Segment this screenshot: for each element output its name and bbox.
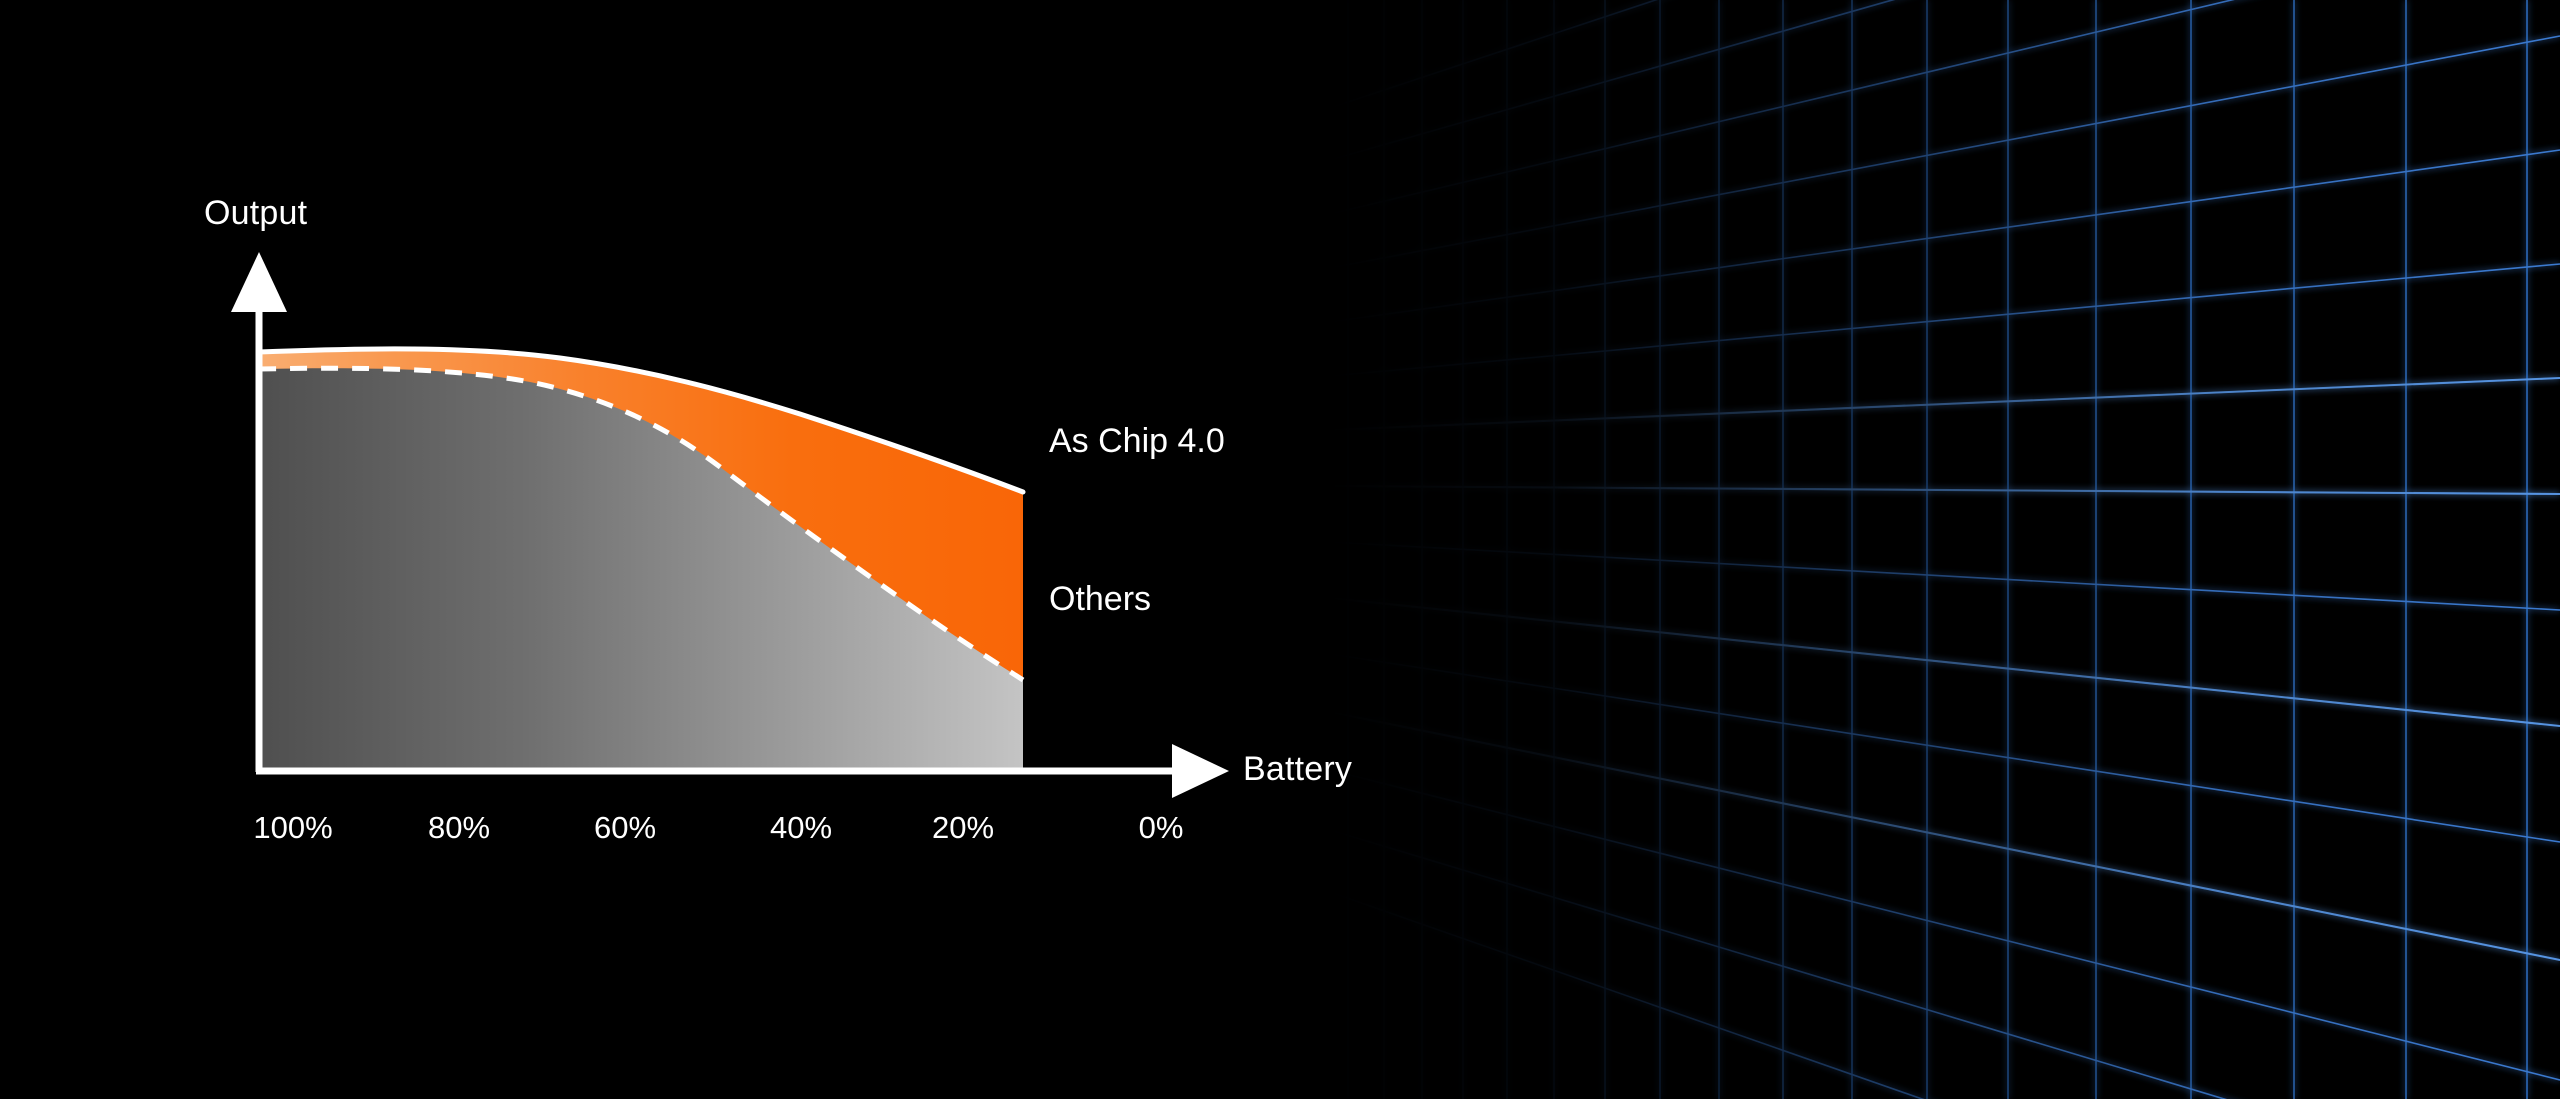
chart-panel: Output Battery As Chip 4.0 Others 100% 8… — [0, 0, 1500, 1099]
chart-svg — [0, 0, 1500, 1099]
series-label-others: Others — [1049, 582, 1151, 616]
series-label-as-chip-4: As Chip 4.0 — [1049, 424, 1225, 458]
screen-canvas: Output Battery As Chip 4.0 Others 100% 8… — [0, 0, 2560, 1099]
grid-lines — [1330, 0, 2560, 1099]
x-tick-label-40: 40% — [770, 812, 832, 843]
grid-horizontal-lines — [1330, 0, 2560, 1099]
y-axis-arrowhead — [231, 252, 287, 312]
background-perspective-grid — [1330, 0, 2560, 1099]
x-tick-label-100: 100% — [253, 812, 332, 843]
x-tick-label-0: 0% — [1139, 812, 1184, 843]
x-tick-label-80: 80% — [428, 812, 490, 843]
y-axis-title: Output — [204, 196, 307, 230]
x-axis-title: Battery — [1243, 752, 1352, 786]
x-axis-arrowhead — [1172, 744, 1229, 798]
x-tick-label-20: 20% — [932, 812, 994, 843]
perspective-grid-svg — [1330, 0, 2560, 1099]
x-tick-label-60: 60% — [594, 812, 656, 843]
grid-vertical-lines — [1348, 0, 2527, 1099]
grid-accent-lines — [1330, 378, 2560, 960]
